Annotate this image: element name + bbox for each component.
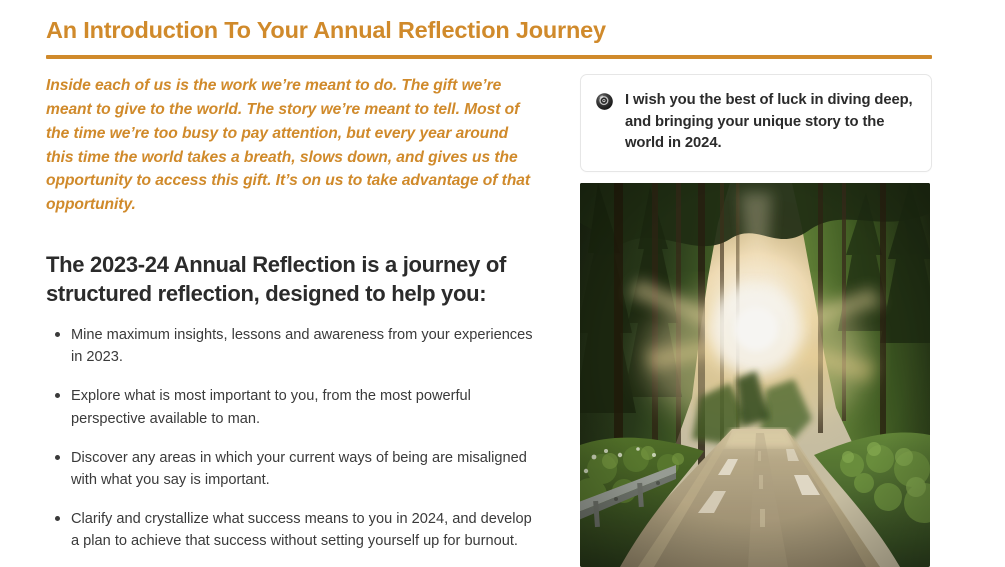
list-item: Clarify and crystallize what success mea… bbox=[46, 508, 538, 552]
left-column: Inside each of us is the work we’re mean… bbox=[46, 74, 538, 553]
list-item-text: Mine maximum insights, lessons and aware… bbox=[71, 327, 533, 365]
list-item-text: Explore what is most important to you, f… bbox=[71, 388, 471, 426]
list-item: Mine maximum insights, lessons and aware… bbox=[46, 324, 538, 368]
bullet-icon bbox=[55, 516, 60, 521]
document-page: An Introduction To Your Annual Reflectio… bbox=[0, 0, 1005, 565]
section-heading: The 2023-24 Annual Reflection is a journ… bbox=[46, 217, 538, 308]
list-item-text: Clarify and crystallize what success mea… bbox=[71, 511, 532, 549]
callout-text: I wish you the best of luck in diving de… bbox=[625, 90, 915, 155]
list-item: Discover any areas in which your current… bbox=[46, 447, 538, 491]
title-divider bbox=[46, 55, 932, 59]
bullet-icon bbox=[55, 455, 60, 460]
forest-road-illustration bbox=[580, 183, 930, 567]
forest-road-photo bbox=[580, 183, 930, 567]
bullet-icon bbox=[55, 393, 60, 398]
title-block: An Introduction To Your Annual Reflectio… bbox=[46, 16, 932, 59]
bullet-icon bbox=[55, 332, 60, 337]
lead-paragraph: Inside each of us is the work we’re mean… bbox=[46, 74, 538, 217]
content-columns: Inside each of us is the work we’re mean… bbox=[0, 74, 1005, 565]
list-item: Explore what is most important to you, f… bbox=[46, 385, 538, 429]
page-title: An Introduction To Your Annual Reflectio… bbox=[46, 16, 932, 45]
list-item-text: Discover any areas in which your current… bbox=[71, 450, 527, 488]
right-column: I wish you the best of luck in diving de… bbox=[580, 74, 932, 567]
benefits-list: Mine maximum insights, lessons and aware… bbox=[46, 308, 538, 552]
dark-eye-icon bbox=[595, 92, 614, 111]
callout-card: I wish you the best of luck in diving de… bbox=[580, 74, 932, 172]
